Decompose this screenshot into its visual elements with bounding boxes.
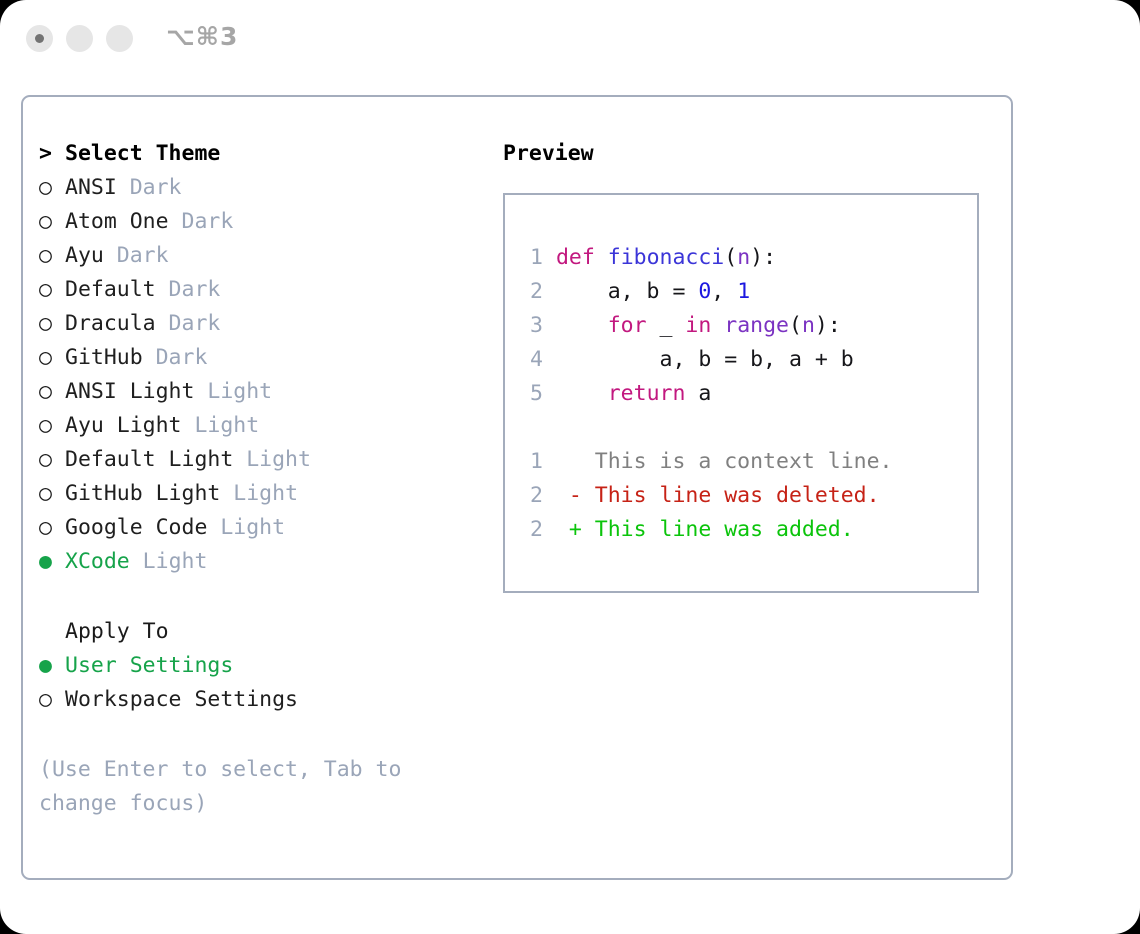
theme-list-item[interactable]: ○ANSI Dark xyxy=(39,171,479,205)
radio-unselected-icon: ○ xyxy=(39,375,65,409)
diff-line-text: This line was added. xyxy=(595,517,854,542)
theme-list-item[interactable]: ○Ayu Light Light xyxy=(39,409,479,443)
window-close-button[interactable] xyxy=(26,25,53,52)
theme-list-item[interactable]: ○ANSI Light Light xyxy=(39,375,479,409)
theme-list-item[interactable]: ○Dracula Dark xyxy=(39,307,479,341)
theme-variant-tag: Dark xyxy=(169,209,234,234)
code-token: in xyxy=(685,313,711,338)
code-token xyxy=(595,245,608,270)
code-line: 3 for _ in range(n): xyxy=(521,309,971,343)
apply-to-spacer xyxy=(39,615,65,649)
theme-variant-tag: Dark xyxy=(117,175,182,200)
theme-variant-tag: Light xyxy=(194,379,272,404)
theme-list-item[interactable]: ○Default Dark xyxy=(39,273,479,307)
radio-unselected-icon: ○ xyxy=(39,443,65,477)
theme-variant-tag: Dark xyxy=(104,243,169,268)
theme-name-label: Ayu xyxy=(65,243,104,268)
preview-panel: Preview 1 def fibonacci(n):2 a, b = 0, 1… xyxy=(503,137,993,593)
radio-unselected-icon: ○ xyxy=(39,683,65,717)
theme-name-label: Default xyxy=(65,277,156,302)
theme-variant-tag: Light xyxy=(182,413,260,438)
code-line-number: 5 xyxy=(521,377,543,411)
diff-marker: - xyxy=(543,483,595,508)
theme-list: ○ANSI Dark○Atom One Dark○Ayu Dark○Defaul… xyxy=(39,171,479,579)
theme-name-label: Default Light xyxy=(65,447,233,472)
theme-variant-tag: Light xyxy=(130,549,208,574)
code-token: range xyxy=(724,313,789,338)
code-token: , xyxy=(711,279,737,304)
code-token: n xyxy=(802,313,815,338)
code-token: 0 xyxy=(698,279,711,304)
theme-name-label: GitHub Light xyxy=(65,481,220,506)
theme-list-item[interactable]: ○GitHub Dark xyxy=(39,341,479,375)
code-line: 2 a, b = 0, 1 xyxy=(521,275,971,309)
radio-unselected-icon: ○ xyxy=(39,205,65,239)
theme-list-item[interactable]: ○Default Light Light xyxy=(39,443,479,477)
theme-name-label: ANSI Light xyxy=(65,379,194,404)
radio-selected-icon: ● xyxy=(39,545,65,579)
theme-list-item[interactable]: ○GitHub Light Light xyxy=(39,477,479,511)
apply-to-option-label: Workspace Settings xyxy=(65,687,298,712)
diff-marker xyxy=(543,449,595,474)
apply-to-list: ●User Settings○Workspace Settings xyxy=(39,649,479,717)
code-token: for xyxy=(608,313,647,338)
theme-name-label: Atom One xyxy=(65,209,169,234)
diff-line: 2 + This line was added. xyxy=(521,513,971,547)
theme-name-label: Ayu Light xyxy=(65,413,182,438)
code-line: 4 a, b = b, a + b xyxy=(521,343,971,377)
diff-marker: + xyxy=(543,517,595,542)
code-token: ( xyxy=(789,313,802,338)
apply-to-heading: Apply To xyxy=(39,615,479,649)
radio-unselected-icon: ○ xyxy=(39,239,65,273)
theme-list-item[interactable]: ●XCode Light xyxy=(39,545,479,579)
code-preview: 1 def fibonacci(n):2 a, b = 0, 13 for _ … xyxy=(521,241,971,547)
theme-name-label: Dracula xyxy=(65,311,156,336)
radio-unselected-icon: ○ xyxy=(39,341,65,375)
radio-unselected-icon: ○ xyxy=(39,409,65,443)
diff-line-number: 2 xyxy=(521,479,543,513)
apply-to-option-label: User Settings xyxy=(65,653,233,678)
code-line: 1 def fibonacci(n): xyxy=(521,241,971,275)
theme-variant-tag: Dark xyxy=(156,311,221,336)
keyboard-shortcut-label: ⌥⌘3 xyxy=(166,22,238,51)
code-token: n xyxy=(737,245,750,270)
code-token xyxy=(556,313,608,338)
radio-unselected-icon: ○ xyxy=(39,273,65,307)
code-token: ( xyxy=(724,245,737,270)
window-minimize-button[interactable] xyxy=(66,25,93,52)
prompt-caret-icon: > xyxy=(39,137,65,171)
theme-variant-tag: Dark xyxy=(156,277,221,302)
code-blank-line xyxy=(521,411,971,445)
code-line: 5 return a xyxy=(521,377,971,411)
code-line-number: 4 xyxy=(521,343,543,377)
code-token: a, b = b, a + b xyxy=(556,347,854,372)
theme-list-item[interactable]: ○Ayu Dark xyxy=(39,239,479,273)
theme-variant-tag: Dark xyxy=(143,345,208,370)
radio-unselected-icon: ○ xyxy=(39,511,65,545)
diff-line: 2 - This line was deleted. xyxy=(521,479,971,513)
select-theme-heading-label: Select Theme xyxy=(65,141,220,166)
diff-line-text: This line was deleted. xyxy=(595,483,880,508)
title-bar: ⌥⌘3 xyxy=(0,0,1140,78)
theme-selector-panel: >Select Theme ○ANSI Dark○Atom One Dark○A… xyxy=(39,137,479,821)
content-window: >Select Theme ○ANSI Dark○Atom One Dark○A… xyxy=(21,95,1013,880)
window-maximize-button[interactable] xyxy=(106,25,133,52)
code-token: ): xyxy=(815,313,841,338)
diff-line: 1 This is a context line. xyxy=(521,445,971,479)
code-line-number: 2 xyxy=(521,275,543,309)
theme-list-item[interactable]: ○Google Code Light xyxy=(39,511,479,545)
code-token: 1 xyxy=(737,279,750,304)
radio-unselected-icon: ○ xyxy=(39,307,65,341)
apply-to-option[interactable]: ○Workspace Settings xyxy=(39,683,479,717)
diff-line-number: 2 xyxy=(521,513,543,547)
radio-unselected-icon: ○ xyxy=(39,477,65,511)
preview-box: 1 def fibonacci(n):2 a, b = 0, 13 for _ … xyxy=(503,193,979,593)
code-token: fibonacci xyxy=(608,245,725,270)
keyboard-hint-text: (Use Enter to select, Tab to change focu… xyxy=(39,753,439,821)
code-token xyxy=(711,313,724,338)
theme-name-label: Google Code xyxy=(65,515,207,540)
theme-variant-tag: Light xyxy=(207,515,285,540)
theme-variant-tag: Light xyxy=(233,447,311,472)
code-token: a, b = xyxy=(556,279,698,304)
close-dot-icon xyxy=(35,34,44,43)
code-token: def xyxy=(556,245,595,270)
app-window: ⌥⌘3 >Select Theme ○ANSI Dark○Atom One Da… xyxy=(0,0,1140,934)
apply-to-heading-label: Apply To xyxy=(65,619,169,644)
theme-list-item[interactable]: ○Atom One Dark xyxy=(39,205,479,239)
theme-variant-tag: Light xyxy=(220,481,298,506)
radio-selected-icon: ● xyxy=(39,649,65,683)
radio-unselected-icon: ○ xyxy=(39,171,65,205)
code-token xyxy=(556,381,608,406)
code-token: _ xyxy=(647,313,686,338)
theme-name-label: ANSI xyxy=(65,175,117,200)
apply-to-option[interactable]: ●User Settings xyxy=(39,649,479,683)
code-token: a xyxy=(685,381,711,406)
code-line-number: 1 xyxy=(521,241,543,275)
theme-name-label: XCode xyxy=(65,549,130,574)
theme-name-label: GitHub xyxy=(65,345,143,370)
diff-line-number: 1 xyxy=(521,445,543,479)
code-line-number: 3 xyxy=(521,309,543,343)
code-token: return xyxy=(608,381,686,406)
diff-line-text: This is a context line. xyxy=(595,449,893,474)
preview-heading: Preview xyxy=(503,137,993,171)
select-theme-heading: >Select Theme xyxy=(39,137,479,171)
code-token: ): xyxy=(750,245,776,270)
